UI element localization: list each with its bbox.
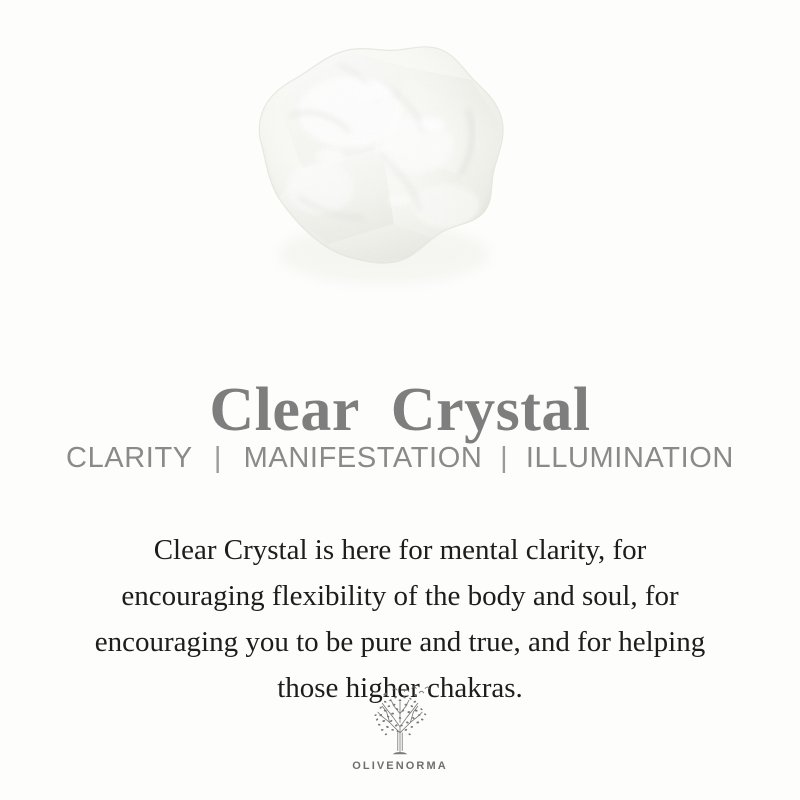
description-line: encouraging flexibility of the body and … bbox=[40, 573, 760, 619]
brand-logo: OLIVENORMA bbox=[0, 684, 800, 772]
description-line: encouraging you to be pure and true, and… bbox=[40, 619, 760, 665]
keyword-clarity: CLARITY bbox=[66, 442, 192, 474]
page-title: Clear Crystal bbox=[0, 374, 800, 446]
tree-of-life-with-birds-icon bbox=[362, 684, 438, 758]
raw-clear-quartz-crystal-icon bbox=[232, 28, 532, 298]
keyword-separator: | bbox=[201, 440, 235, 476]
product-image-stage bbox=[0, 0, 800, 320]
keyword-illumination: ILLUMINATION bbox=[526, 442, 734, 474]
product-info-card: Clear Crystal CLARITY | MANIFESTATION | … bbox=[0, 0, 800, 800]
description-line: Clear Crystal is here for mental clarity… bbox=[40, 527, 760, 573]
keyword-list: CLARITY | MANIFESTATION | ILLUMINATION bbox=[0, 440, 800, 476]
brand-name: OLIVENORMA bbox=[0, 760, 800, 772]
keyword-separator: | bbox=[491, 440, 517, 476]
keyword-manifestation: MANIFESTATION bbox=[244, 442, 483, 474]
